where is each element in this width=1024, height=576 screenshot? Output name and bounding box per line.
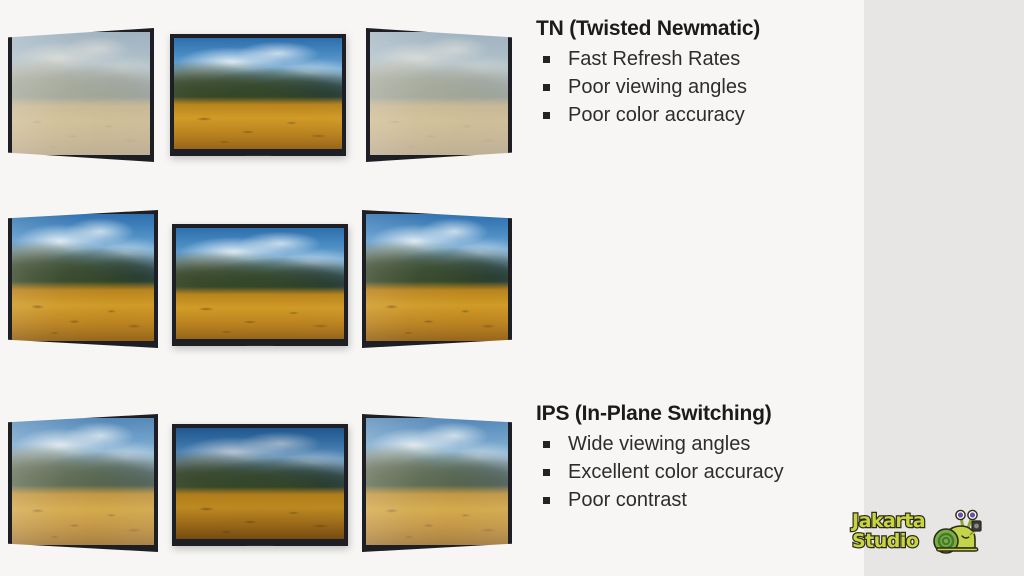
text-block-tn: TN (Twisted Newmatic) Fast Refresh Rates… — [536, 16, 866, 129]
snail-mascot-icon — [930, 508, 984, 554]
monitor-stand — [245, 155, 271, 156]
monitor-tn-center — [170, 34, 346, 156]
heading-tn: TN (Twisted Newmatic) — [536, 16, 866, 42]
screen-image-tn-right — [370, 32, 508, 155]
screen-image-tn-center — [174, 38, 342, 149]
square-bullet-icon — [543, 84, 550, 91]
monitor-ips-left — [8, 210, 158, 348]
monitor-stand — [247, 345, 273, 346]
bullet-item: Fast Refresh Rates — [536, 45, 866, 73]
watermark-logo: Jakarta Studio — [852, 505, 1016, 557]
bullet-item: Poor color accuracy — [536, 101, 866, 129]
square-bullet-icon — [543, 112, 550, 119]
logo-line-2: Studio — [852, 531, 925, 551]
screen-image-ips-right — [366, 214, 508, 341]
slide-canvas: TN (Twisted Newmatic) Fast Refresh Rates… — [0, 0, 1024, 576]
panel-row-ips: IPS (In-Plane Switching) Wide viewing an… — [0, 196, 1024, 392]
monitor-stand — [247, 545, 273, 546]
bullet-text: Poor viewing angles — [568, 76, 747, 98]
monitor-va-left — [8, 414, 158, 552]
logo-line-1: Jakarta — [852, 511, 925, 531]
monitor-tn-right — [366, 28, 512, 162]
bullet-text: Poor color accuracy — [568, 104, 745, 126]
monitor-va-center — [172, 424, 348, 546]
screen-image-tn-left — [12, 32, 150, 155]
screen-image-va-center — [176, 428, 344, 539]
monitor-ips-center — [172, 224, 348, 346]
screen-image-va-right — [366, 418, 508, 545]
screen-image-ips-left — [12, 214, 154, 341]
monitor-cluster-ips — [0, 196, 520, 392]
screen-image-va-left — [12, 418, 154, 545]
logo-wordmark: Jakarta Studio — [852, 511, 925, 551]
screen-image-ips-center — [176, 228, 344, 339]
square-bullet-icon — [543, 56, 550, 63]
monitor-tn-left — [8, 28, 154, 162]
monitor-va-right — [362, 414, 512, 552]
bullet-item: Poor viewing angles — [536, 73, 866, 101]
monitor-cluster-tn — [0, 0, 520, 196]
bullet-text: Fast Refresh Rates — [568, 48, 740, 70]
monitor-ips-right — [362, 210, 512, 348]
monitor-cluster-va — [0, 392, 520, 576]
panel-row-tn: TN (Twisted Newmatic) Fast Refresh Rates… — [0, 0, 1024, 196]
bullet-list-tn: Fast Refresh Rates Poor viewing angles P… — [536, 45, 866, 129]
